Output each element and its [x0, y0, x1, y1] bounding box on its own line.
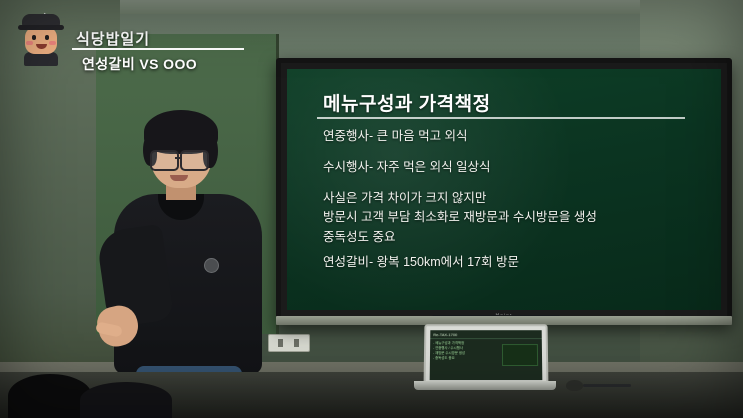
- wall-display: 메뉴구성과 가격책정 연중행사- 큰 마음 먹고 외식 수시행사- 자주 먹은 …: [276, 58, 732, 325]
- computer-mouse-icon: [566, 380, 583, 391]
- branding-divider: [72, 48, 244, 50]
- slide-line-6: 연성갈비- 왕복 150km에서 17회 방문: [323, 253, 705, 271]
- mascot-cap-brim: [18, 25, 64, 30]
- laptop-keyboard-base: [414, 381, 556, 390]
- glasses-bridge-icon: [175, 157, 182, 159]
- video-frame: 메뉴구성과 가격책정 연중행사- 큰 마음 먹고 외식 수시행사- 자주 먹은 …: [0, 0, 743, 418]
- laptop-screen-content: Re-TAX-1700 - 메뉴구성과 가격책정 - 연중행사 / 수시행사 -…: [430, 330, 543, 380]
- audience-head-2: [80, 382, 172, 418]
- slide-line-4: 방문시 고객 부담 최소화로 재방문과 수시방문을 생성: [323, 208, 705, 226]
- mascot-cheek-right: [49, 41, 56, 45]
- slide-body: 연중행사- 큰 마음 먹고 외식 수시행사- 자주 먹은 외식 일상식 사실은 …: [323, 127, 705, 271]
- slide-title: 메뉴구성과 가격책정: [323, 89, 491, 116]
- laptop-header-text: Re-TAX-1700: [430, 330, 542, 339]
- slide-screen: 메뉴구성과 가격책정 연중행사- 큰 마음 먹고 외식 수시행사- 자주 먹은 …: [287, 69, 721, 310]
- channel-branding: ↑ 식당밥일기 연성갈비 VS OOO: [10, 6, 240, 66]
- cable: [583, 384, 631, 387]
- channel-title: 식당밥일기: [76, 28, 150, 49]
- mascot-icon: ↑: [16, 14, 66, 64]
- mascot-body: [24, 52, 58, 66]
- laptop-display: Re-TAX-1700 - 메뉴구성과 가격책정 - 연중행사 / 수시행사 -…: [424, 324, 549, 386]
- glasses-right-lens-icon: [180, 150, 209, 171]
- slide-line-1: 연중행사- 큰 마음 먹고 외식: [323, 127, 705, 145]
- slide-title-underline: [317, 117, 685, 119]
- episode-label: 연성갈비 VS OOO: [82, 54, 197, 74]
- presenter-shirt-logo: [204, 258, 219, 273]
- mascot-eye-right: [45, 35, 49, 40]
- mascot-cheek-left: [26, 41, 33, 45]
- mascot-eye-left: [32, 35, 36, 40]
- slide-line-2: 수시행사- 자주 먹은 외식 일상식: [323, 158, 705, 176]
- slide-line-5: 중독성도 중요: [323, 228, 705, 246]
- glasses-left-lens-icon: [150, 150, 179, 171]
- slide-line-3: 사실은 가격 차이가 크지 않지만: [323, 189, 705, 207]
- laptop-thumbnail-box: [502, 344, 538, 366]
